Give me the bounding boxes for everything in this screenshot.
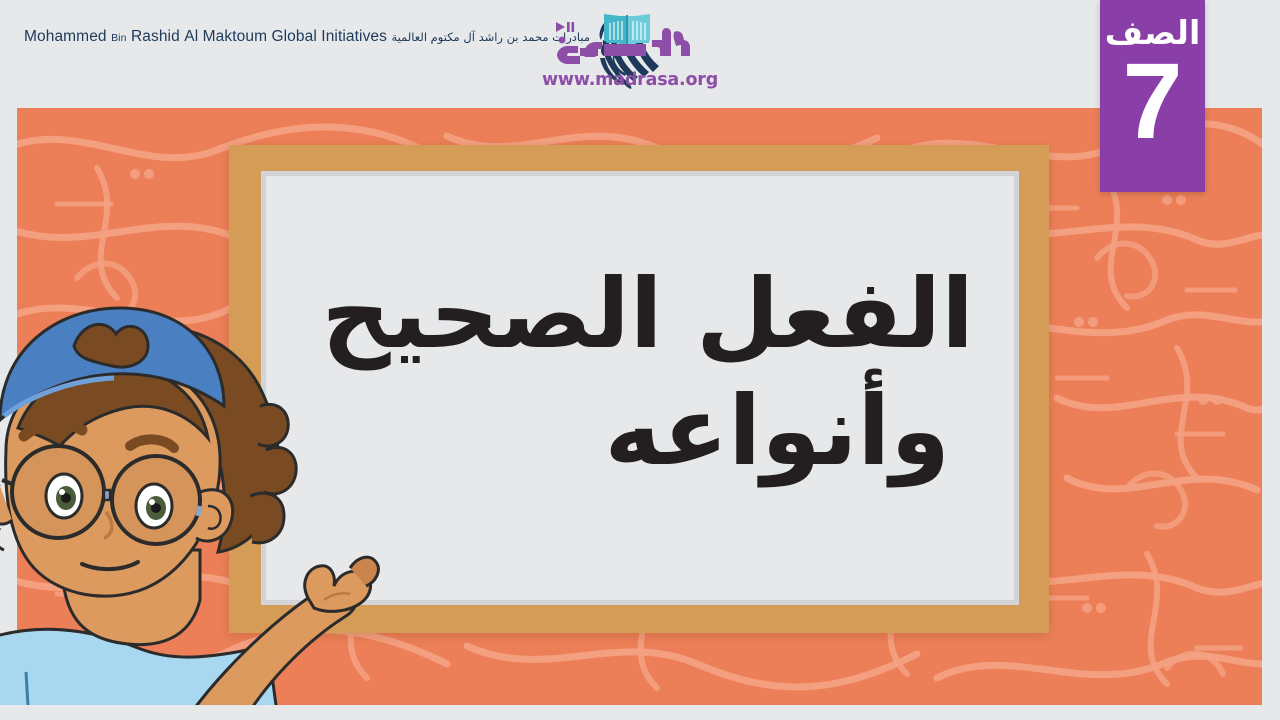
mbr-name-part-2: Rashid	[131, 28, 180, 45]
header-bar: مبادرات محمد بن راشد آل مكتوم العالمية M…	[0, 0, 1280, 108]
open-book-icon	[604, 14, 650, 46]
madrasa-logo[interactable]: www.madrasa.org	[540, 10, 720, 98]
madrasa-wordmark	[540, 10, 720, 68]
lesson-title-card: مبادرات محمد بن راشد آل مكتوم العالمية M…	[0, 0, 1280, 720]
boy-with-glasses-character	[0, 300, 408, 720]
mbr-english-line-2: Al Maktoum Global Initiatives	[184, 28, 387, 45]
bottom-edge-strip	[0, 705, 1280, 720]
grade-badge: الصف 7	[1100, 0, 1205, 192]
mbr-english-line-1: Mohammed Bin Rashid	[24, 28, 184, 45]
grade-badge-number: 7	[1122, 51, 1182, 150]
character-raised-arm	[186, 557, 378, 720]
mbr-name-part-mid: Bin	[111, 32, 126, 44]
mbr-name-part-1: Mohammed	[24, 28, 107, 45]
mbr-logo-text: مبادرات محمد بن راشد آل مكتوم العالمية M…	[24, 12, 590, 47]
madrasa-url-text[interactable]: www.madrasa.org	[540, 70, 720, 90]
play-pause-icon	[556, 22, 574, 32]
